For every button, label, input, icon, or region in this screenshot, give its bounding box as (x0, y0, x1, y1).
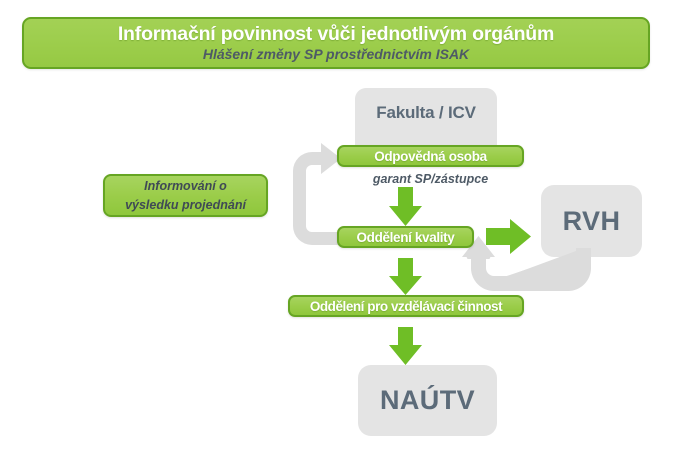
node-oddeleni-vzdelavaci-cinnost: Oddělení pro vzdělávací činnost (288, 295, 524, 317)
node-odpovedna-osoba-caption: garant SP/zástupce (362, 172, 499, 186)
diagram-canvas: Informační povinnost vůči jednotlivým or… (0, 0, 673, 464)
node-rvh: RVH (541, 185, 642, 257)
node-informovani-line1: Informování o (144, 177, 227, 195)
node-oddeleni-kvality: Oddělení kvality (337, 226, 474, 248)
node-nautv: NAÚTV (358, 365, 497, 436)
node-oddeleni-vzdelavaci-cinnost-label: Oddělení pro vzdělávací činnost (310, 299, 502, 314)
node-informovani-line2: výsledku projednání (125, 196, 246, 214)
arrow-odpovedna-to-kvality (389, 187, 422, 226)
banner-title: Informační povinnost vůči jednotlivým or… (118, 24, 554, 44)
banner-subtitle: Hlášení změny SP prostřednictvím ISAK (203, 47, 469, 62)
node-oddeleni-kvality-label: Oddělení kvality (357, 230, 455, 245)
arrow-kvality-to-vzdelavaci (389, 258, 422, 295)
node-odpovedna-osoba-caption-label: garant SP/zástupce (373, 172, 488, 186)
arrow-kvality-feedback-to-odpovedna (293, 143, 341, 245)
arrow-vzdelavaci-to-nautv (389, 327, 422, 365)
node-informovani-o-vysledku: Informování o výsledku projednání (103, 174, 268, 217)
header-banner: Informační povinnost vůči jednotlivým or… (22, 17, 650, 69)
node-nautv-label: NAÚTV (380, 385, 475, 416)
node-fakulta-icv-label: Fakulta / ICV (376, 103, 475, 123)
node-odpovedna-osoba-label: Odpovědná osoba (374, 149, 487, 164)
node-rvh-label: RVH (563, 206, 621, 237)
node-odpovedna-osoba: Odpovědná osoba (337, 145, 524, 167)
arrow-kvality-to-rvh (486, 219, 531, 254)
